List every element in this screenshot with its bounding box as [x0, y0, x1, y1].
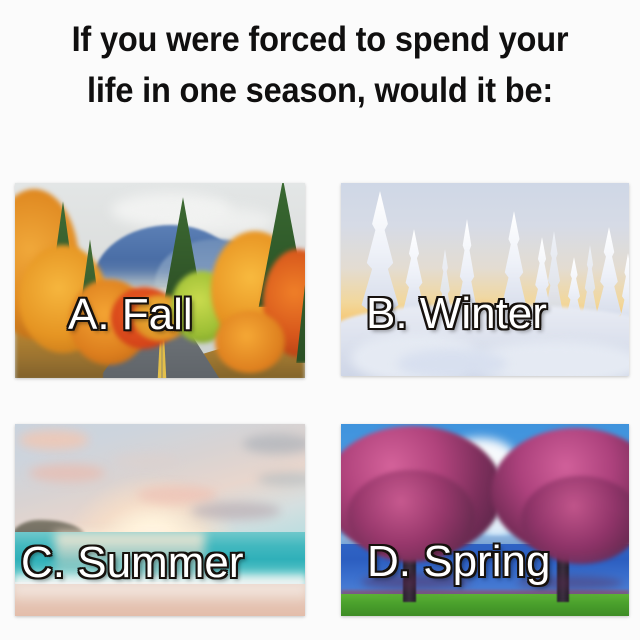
option-card-summer[interactable] — [15, 424, 305, 616]
headline-line-2: life in one season, would it be: — [22, 65, 617, 116]
autumn-tree — [215, 311, 285, 373]
cloud-shape — [19, 430, 89, 450]
option-label-summer: C. Summer — [21, 541, 243, 585]
summer-scene-image — [15, 424, 305, 616]
spring-scene-image — [341, 424, 629, 616]
option-card-winter[interactable] — [341, 183, 629, 376]
snow-drift — [397, 349, 507, 376]
option-label-spring: D. Spring — [367, 540, 550, 584]
fall-scene-image — [15, 183, 305, 378]
cloud-shape — [191, 502, 281, 520]
cloud-shape — [29, 464, 105, 482]
option-label-fall: A. Fall — [68, 293, 193, 337]
option-card-spring[interactable] — [341, 424, 629, 616]
page-title: If you were forced to spend your life in… — [22, 14, 617, 116]
cloud-shape — [243, 434, 305, 454]
cloud-shape — [137, 486, 217, 504]
wet-sand-sheen — [15, 586, 305, 604]
cloud-shape — [113, 454, 179, 468]
grass-layer — [341, 594, 629, 616]
headline-line-1: If you were forced to spend your — [22, 14, 617, 65]
option-card-fall[interactable] — [15, 183, 305, 378]
winter-scene-image — [341, 183, 629, 376]
option-label-winter: B. Winter — [366, 292, 547, 336]
